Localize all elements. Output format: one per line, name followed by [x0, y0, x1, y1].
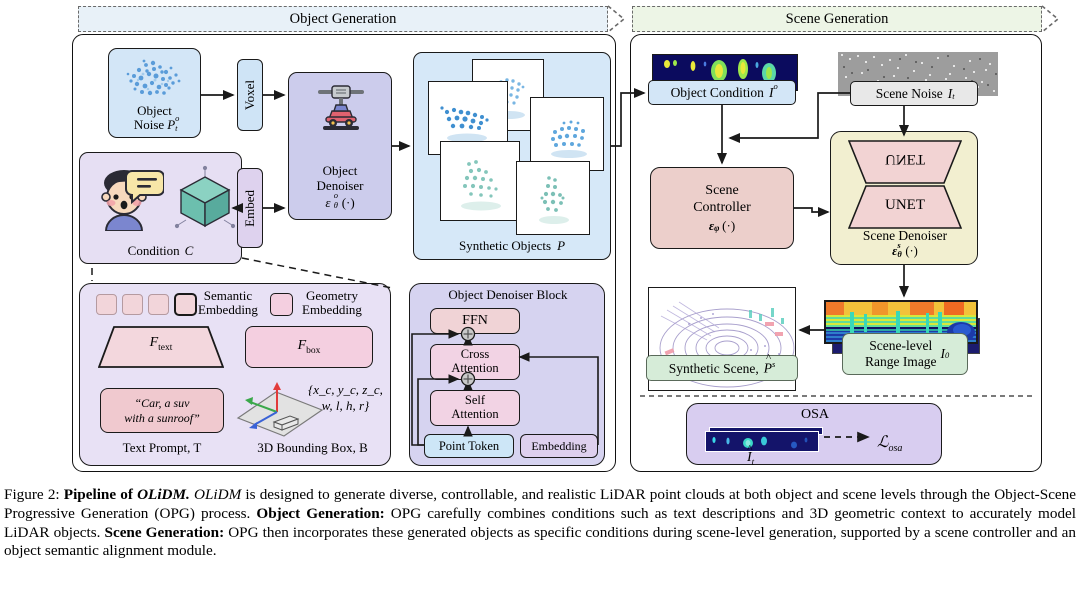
semantic-embedding-legend [96, 293, 197, 316]
semantic-legend-line2: Embedding [198, 303, 258, 317]
object-noise-box: Object Noise Pot [108, 48, 201, 138]
cross-attention-line2: Attention [451, 362, 498, 376]
bbox-params-line1: {x_c, y_c, z_c, [308, 382, 383, 398]
geometry-swatch [270, 293, 293, 316]
synthetic-scene-label-box: Synthetic Scene, ^ Ps [646, 355, 798, 381]
synthetic-objects-symbol: P [557, 239, 565, 254]
object-denoiser-block-title: Object Denoiser Block [410, 288, 606, 303]
f-box-block: Fbox [245, 326, 373, 368]
caption-italic-2: OLiDM [190, 486, 241, 503]
car-crane-icon [315, 83, 367, 135]
scene-denoiser-title: Scene Denoiser [831, 228, 979, 244]
banner-object-generation-label: Object Generation [290, 11, 397, 28]
caption-bold-2: Object Generation: [256, 505, 384, 522]
embed-box: Embed [237, 168, 263, 248]
bbox-params-line2: w, l, h, r} [308, 398, 383, 414]
self-attention-box: Self Attention [430, 390, 520, 426]
text-prompt-line2: with a sunroof” [124, 411, 200, 426]
object-denoiser-label: Object Denoiser εoθ (·) [317, 164, 364, 211]
bbox-params: {x_c, y_c, z_c, w, l, h, r} [308, 382, 383, 415]
f-text-block: Ftext [98, 326, 224, 368]
object-denoiser-formula: εoθ (·) [317, 196, 364, 211]
thumb-object-5 [516, 161, 590, 235]
person-speech-icon [94, 165, 164, 231]
scene-controller-line2: Controller [693, 199, 751, 217]
range-image-dark-icon [705, 431, 819, 452]
self-attention-line1: Self [465, 394, 485, 408]
caption-bold-3: Scene Generation: [105, 524, 225, 541]
semantic-swatch-2 [122, 294, 143, 315]
embedding-detail-panel: Semantic Embedding Geometry Embedding Ft… [79, 283, 391, 466]
synthetic-objects-label-text: Synthetic Objects [459, 239, 551, 254]
scene-controller-box: Scene Controller εφ(·) [650, 167, 794, 249]
object-denoiser-line2: Denoiser [317, 179, 364, 194]
f-text-label: Ftext [98, 335, 224, 353]
object-noise-sub: t [175, 124, 177, 134]
object-condition-label-box: Object Condition Io [648, 80, 796, 105]
geometry-legend-line2: Embedding [302, 303, 362, 317]
ffn-box: FFN [430, 308, 520, 334]
osa-loss-label: ℒosa [877, 432, 902, 454]
unet-top-shape: UNET [848, 140, 962, 184]
point-token-box: Point Token [424, 434, 514, 458]
object-condition-label: Object Condition Io [671, 85, 774, 101]
point-token-label: Point Token [439, 439, 499, 454]
caption-italic-1: OLiDM. [137, 486, 190, 503]
scene-controller-formula: εφ(·) [709, 218, 735, 234]
scene-denoiser-label: Scene Denoiser εsθ(·) [831, 228, 979, 259]
thumb-object-3 [530, 97, 604, 171]
object-noise-line1: Object [134, 104, 175, 119]
object-denoiser-line1: Object [317, 164, 364, 179]
text-prompt-caption: Text Prompt, T [100, 441, 224, 456]
semantic-swatch-4 [174, 293, 197, 316]
banner-scene-generation: Scene Generation [632, 6, 1042, 32]
geometry-legend-line1: Geometry [302, 289, 362, 303]
embed-label: Embed [243, 190, 258, 227]
banner-object-generation: Object Generation [78, 6, 608, 32]
cross-attention-box: Cross Attention [430, 344, 520, 380]
semantic-swatch-1 [96, 294, 117, 315]
ffn-label: FFN [462, 313, 488, 329]
point-cloud-noise-icon [119, 54, 193, 100]
condition-box: Condition C [79, 152, 242, 264]
voxel-box: Voxel [237, 59, 263, 131]
object-noise-line2: Noise [134, 118, 164, 133]
unet-bottom-shape: UNET [848, 185, 962, 229]
text-prompt-line1: “Car, a suv [134, 396, 189, 411]
osa-title: OSA [687, 407, 943, 423]
object-noise-symbol: Pot [167, 118, 175, 133]
thumb-object-4 [440, 141, 520, 221]
embedding-label: Embedding [531, 439, 586, 454]
osa-panel: OSA ^ It ℒosa [686, 403, 942, 465]
caption-prefix: Figure 2: [4, 486, 64, 503]
object-noise-label: Object Noise Pot [134, 104, 175, 133]
text-prompt-box: “Car, a suv with a sunroof” [100, 388, 224, 433]
geometry-embedding-legend-label: Geometry Embedding [302, 289, 362, 318]
object-denoiser-box: Object Denoiser εoθ (·) [288, 72, 392, 220]
caption-bold-1: Pipeline of [64, 486, 137, 503]
figure-caption: Figure 2: Pipeline of OLiDM. OLiDM is de… [4, 486, 1076, 561]
scene-noise-label: Scene Noise It [876, 86, 953, 102]
condition-label-text: Condition [128, 244, 180, 259]
bbox-caption: 3D Bounding Box, B [240, 441, 385, 456]
condition-symbol: C [185, 244, 194, 259]
osa-input-symbol: ^ It [747, 450, 754, 467]
voxel-label: Voxel [243, 80, 258, 110]
unet-bottom-label: UNET [848, 197, 962, 214]
condition-label: Condition C [128, 244, 194, 259]
range-image-label-box: Scene-level Range Image I0 [842, 333, 968, 375]
synthetic-scene-label: Synthetic Scene, ^ Ps [669, 359, 776, 377]
scene-denoiser-formula: εsθ(·) [831, 244, 979, 259]
cross-attention-line1: Cross [461, 348, 489, 362]
3d-cube-icon [172, 163, 238, 233]
f-box-label: Fbox [298, 338, 321, 356]
figure-pipeline-olidm: Object Generation Scene Generation [0, 0, 1080, 605]
scene-denoiser-box: UNET UNET Scene Denoiser εsθ(·) [830, 131, 978, 265]
synthetic-objects-thumbnails [420, 57, 606, 227]
semantic-swatch-3 [148, 294, 169, 315]
embedding-box: Embedding [520, 434, 598, 458]
synthetic-objects-label: Synthetic Objects P [459, 239, 565, 254]
banner-scene-generation-label: Scene Generation [786, 11, 889, 28]
self-attention-line2: Attention [451, 408, 498, 422]
object-denoiser-block-panel: Object Denoiser Block FFN Cross Attentio… [409, 283, 605, 466]
unet-top-label: UNET [848, 150, 962, 167]
semantic-legend-line1: Semantic [198, 289, 258, 303]
synthetic-objects-box: Synthetic Objects P [413, 52, 611, 260]
range-image-label: Scene-level Range Image I0 [865, 338, 945, 369]
scene-noise-label-box: Scene Noise It [850, 81, 978, 106]
semantic-embedding-legend-label: Semantic Embedding [198, 289, 258, 318]
scene-controller-line1: Scene [705, 182, 738, 200]
